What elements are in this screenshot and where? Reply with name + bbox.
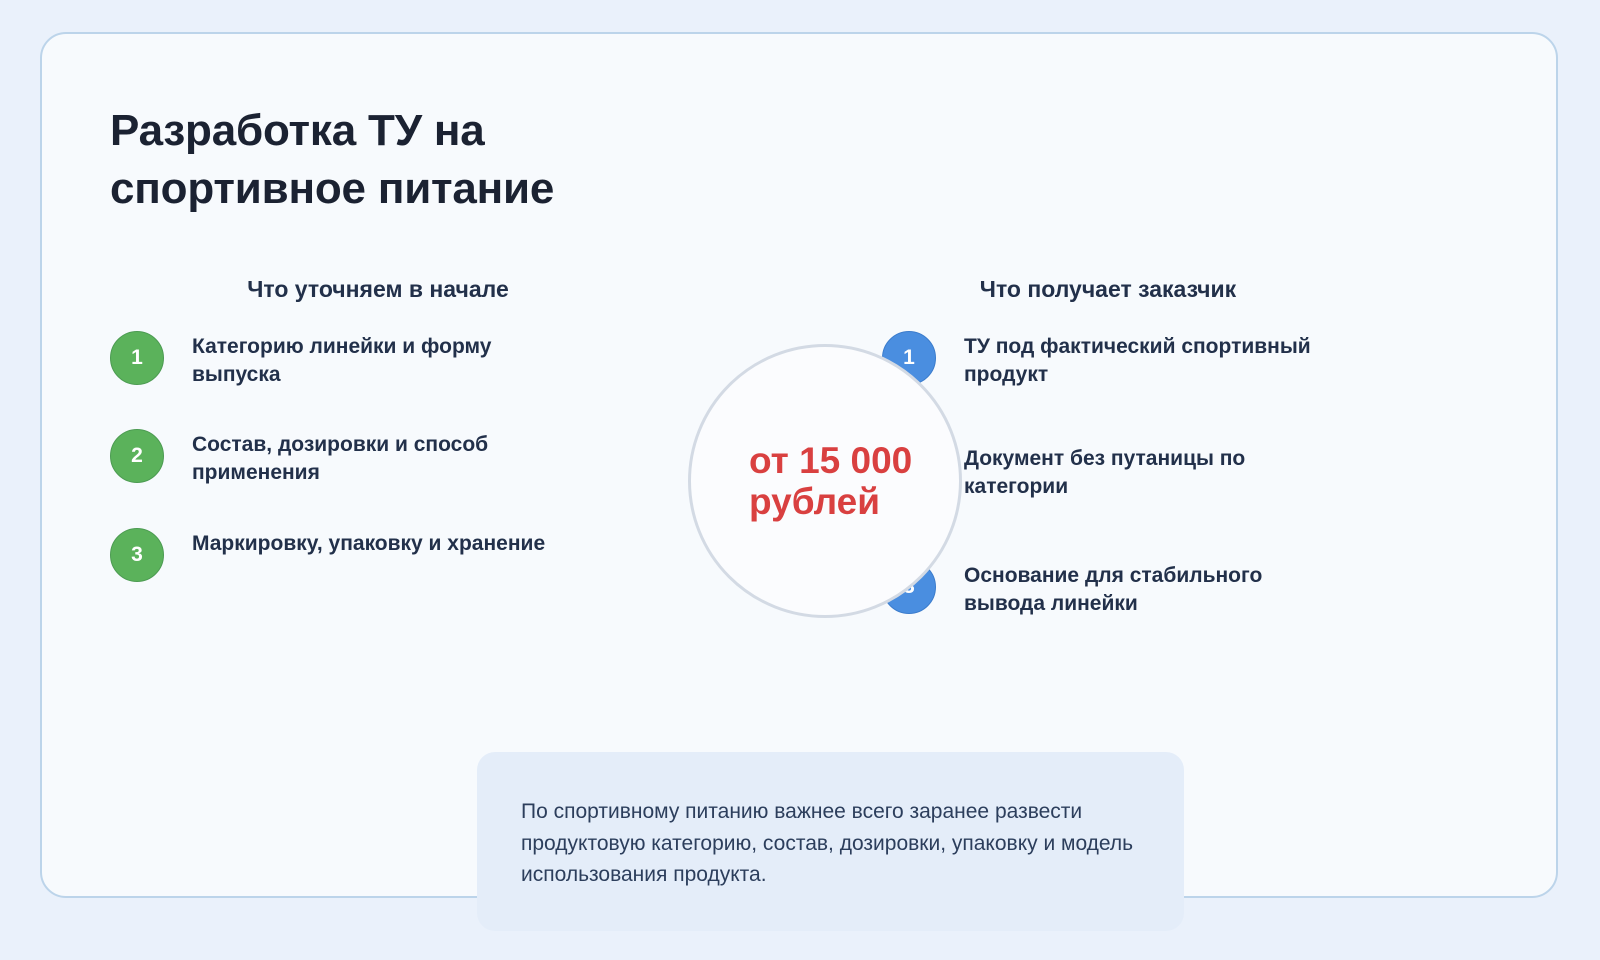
note-box: По спортивному питанию важнее всего зара… (477, 752, 1184, 931)
infographic-card: Разработка ТУ на спортивное питание Что … (40, 32, 1558, 898)
list-item-label: Документ без путаницы по категории (964, 441, 1344, 501)
list-item-label: Основание для стабильного вывода линейки (964, 558, 1344, 618)
list-item: 1 ТУ под фактический спортивный продукт (882, 329, 1442, 389)
list-item: 2 Документ без путаницы по категории (882, 441, 1442, 501)
badge-number-1: 1 (110, 331, 164, 385)
list-item-label: Состав, дозировки и способ применения (192, 427, 562, 487)
column-header-left: Что уточняем в начале (110, 276, 670, 303)
list-item-label: ТУ под фактический спортивный продукт (964, 329, 1344, 389)
list-what-client-gets: 1 ТУ под фактический спортивный продукт … (882, 329, 1442, 618)
column-header-right: Что получает заказчик (882, 276, 1442, 303)
badge-number-2: 2 (110, 429, 164, 483)
list-item: 3 Основание для стабильного вывода линей… (882, 558, 1442, 618)
price-circle: от 15 000 рублей (688, 344, 962, 618)
list-item: 3 Маркировку, упаковку и хранение (110, 526, 670, 582)
list-what-we-clarify: 1 Категорию линейки и форму выпуска 2 Со… (110, 329, 670, 582)
list-item-label: Маркировку, упаковку и хранение (192, 526, 562, 558)
page-title: Разработка ТУ на спортивное питание (110, 102, 730, 218)
badge-number-3: 3 (110, 528, 164, 582)
column-what-client-gets: Что получает заказчик 1 ТУ под фактическ… (882, 276, 1442, 618)
list-item-label: Категорию линейки и форму выпуска (192, 329, 562, 389)
note-text: По спортивному питанию важнее всего зара… (521, 796, 1140, 891)
price-label: от 15 000 рублей (749, 440, 919, 523)
column-what-we-clarify: Что уточняем в начале 1 Категорию линейк… (110, 276, 670, 582)
list-item: 1 Категорию линейки и форму выпуска (110, 329, 670, 389)
list-item: 2 Состав, дозировки и способ применения (110, 427, 670, 487)
